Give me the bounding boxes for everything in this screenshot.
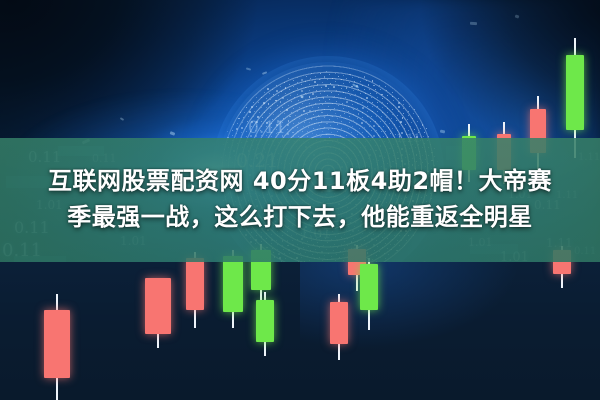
banner-image: 0.110.111.010.110.111.010.110.211.11XII1… [0,0,600,400]
candle-body [566,55,584,130]
headline-line-2: 季最强一战，这么打下去，他能重返全明星 [67,202,533,234]
headline-line-1: 互联网股票配资网 40分11板4助2帽！大帝赛 [48,166,552,198]
headline-block: 互联网股票配资网 40分11板4助2帽！大帝赛 季最强一战，这么打下去，他能重返… [0,138,600,262]
